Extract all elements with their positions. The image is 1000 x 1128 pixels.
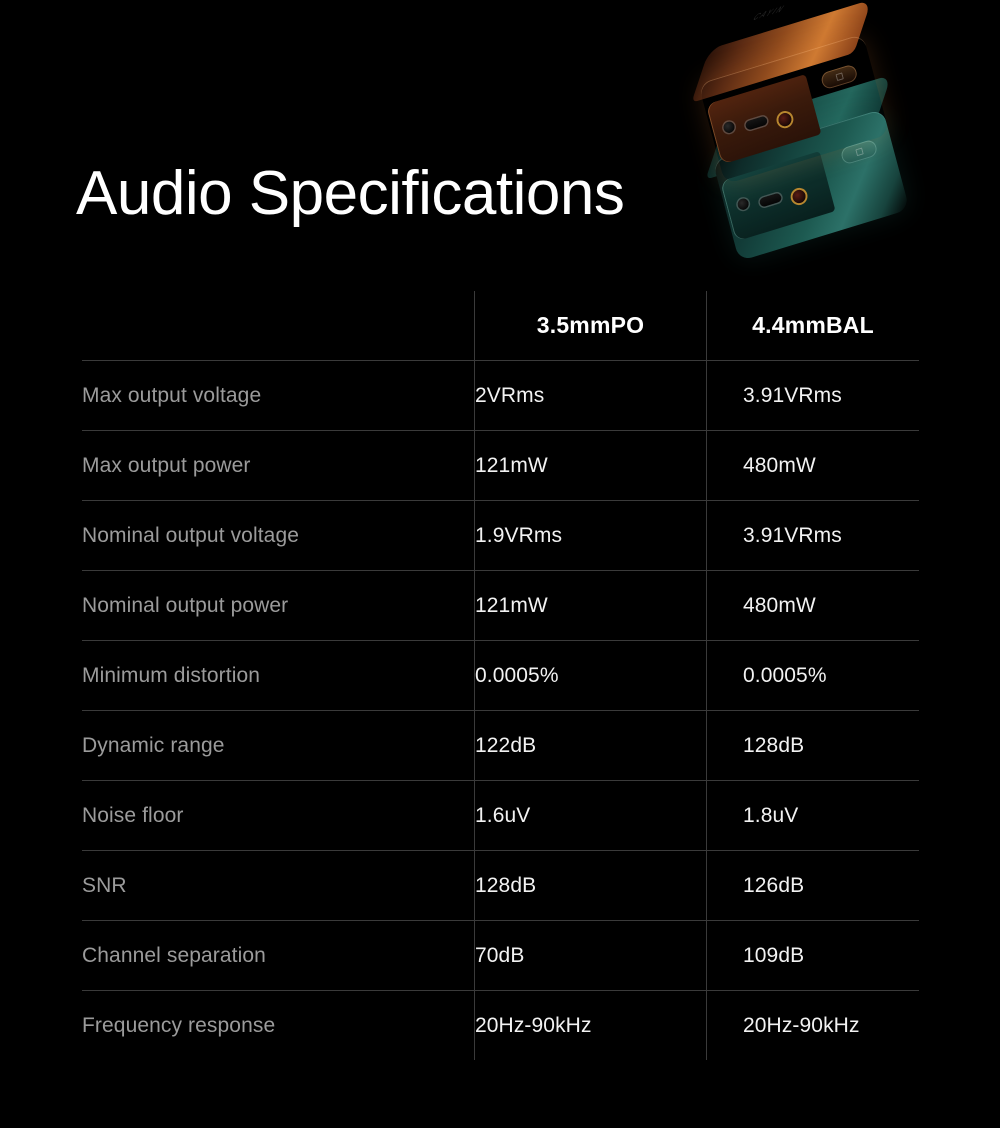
spec-label: Frequency response [82, 991, 475, 1061]
page-root: CAYIN CAYIN Audio Specifications [0, 0, 1000, 1128]
spec-value-po: 2VRms [475, 361, 707, 431]
spec-value-po: 1.6uV [475, 781, 707, 851]
spec-value-bal: 126dB [707, 851, 920, 921]
page-title: Audio Specifications [76, 163, 624, 225]
table-row: Nominal output voltage 1.9VRms 3.91VRms [82, 501, 920, 571]
spec-value-bal: 480mW [707, 431, 920, 501]
spec-label: Minimum distortion [82, 641, 475, 711]
header-cell-po: 3.5mmPO [475, 291, 707, 361]
spec-label: Max output power [82, 431, 475, 501]
spec-value-bal: 3.91VRms [707, 361, 920, 431]
spec-value-po: 121mW [475, 431, 707, 501]
spec-value-bal: 20Hz-90kHz [707, 991, 920, 1061]
audio-specifications-table: 3.5mmPO 4.4mmBAL Max output voltage 2VRm… [81, 290, 920, 1061]
spec-value-bal: 3.91VRms [707, 501, 920, 571]
device-teal-body [712, 109, 909, 262]
spec-value-po: 0.0005% [475, 641, 707, 711]
usb-c-port-icon [745, 116, 768, 131]
headphone-jack-35mm-icon [737, 197, 750, 211]
device-teal-brand-mark: CAYIN [764, 81, 801, 100]
spec-label: Dynamic range [82, 711, 475, 781]
spec-table-container: 3.5mmPO 4.4mmBAL Max output voltage 2VRm… [81, 290, 919, 1061]
device-teal-side-button [840, 139, 879, 166]
table-row: Max output voltage 2VRms 3.91VRms [82, 361, 920, 431]
device-copper-body [698, 34, 889, 185]
spec-label: Nominal output voltage [82, 501, 475, 571]
headphone-jack-44mm-icon [777, 111, 793, 127]
table-row: Noise floor 1.6uV 1.8uV [82, 781, 920, 851]
spec-value-po: 1.9VRms [475, 501, 707, 571]
spec-value-po: 122dB [475, 711, 707, 781]
device-teal-top-face: CAYIN [706, 75, 892, 180]
table-row: Minimum distortion 0.0005% 0.0005% [82, 641, 920, 711]
spec-label: Max output voltage [82, 361, 475, 431]
spec-value-bal: 0.0005% [707, 641, 920, 711]
spec-label: SNR [82, 851, 475, 921]
device-copper-top-face: CAYIN [691, 0, 871, 103]
usb-c-port-icon [759, 192, 782, 207]
headphone-jack-35mm-icon [722, 120, 735, 134]
table-row: Dynamic range 122dB 128dB [82, 711, 920, 781]
spec-table-body: 3.5mmPO 4.4mmBAL Max output voltage 2VRm… [82, 291, 920, 1061]
device-copper-side-button [820, 63, 859, 90]
spec-value-po: 70dB [475, 921, 707, 991]
spec-value-po: 128dB [475, 851, 707, 921]
device-teal-front-face [720, 151, 836, 241]
headphone-jack-44mm-icon [791, 188, 807, 204]
device-copper-brand-mark: CAYIN [750, 4, 787, 23]
device-copper-front-face [706, 74, 822, 164]
spec-value-bal: 109dB [707, 921, 920, 991]
spec-label: Noise floor [82, 781, 475, 851]
spec-value-bal: 480mW [707, 571, 920, 641]
table-row: Channel separation 70dB 109dB [82, 921, 920, 991]
product-image-group: CAYIN CAYIN [690, 55, 950, 270]
spec-value-po: 20Hz-90kHz [475, 991, 707, 1061]
device-teal: CAYIN [712, 109, 909, 262]
spec-value-bal: 1.8uV [707, 781, 920, 851]
table-row: Frequency response 20Hz-90kHz 20Hz-90kHz [82, 991, 920, 1061]
spec-value-po: 121mW [475, 571, 707, 641]
header-cell-bal: 4.4mmBAL [707, 291, 920, 361]
spec-value-bal: 128dB [707, 711, 920, 781]
spec-label: Nominal output power [82, 571, 475, 641]
header-cell-blank [82, 291, 475, 361]
device-copper: CAYIN [698, 34, 889, 185]
table-row: Nominal output power 121mW 480mW [82, 571, 920, 641]
spec-label: Channel separation [82, 921, 475, 991]
table-header-row: 3.5mmPO 4.4mmBAL [82, 291, 920, 361]
table-row: Max output power 121mW 480mW [82, 431, 920, 501]
table-row: SNR 128dB 126dB [82, 851, 920, 921]
